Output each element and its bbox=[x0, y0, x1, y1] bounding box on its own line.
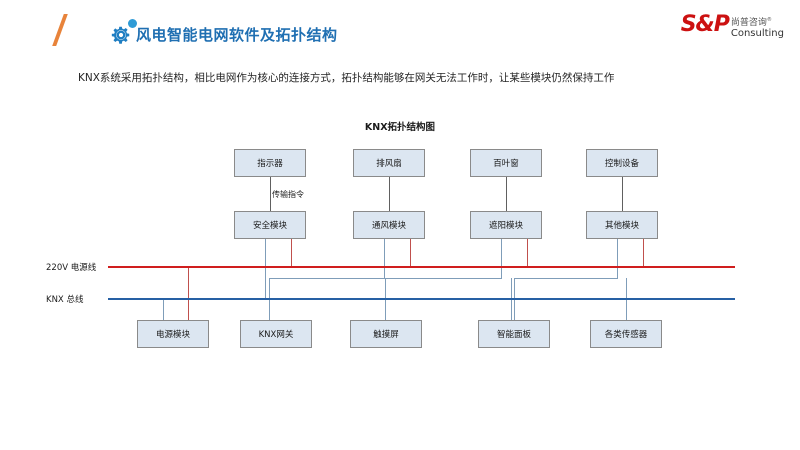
node-knx-gateway[interactable]: KNX网关 bbox=[240, 320, 312, 348]
node-safety-module[interactable]: 安全模块 bbox=[234, 211, 306, 239]
knx-topology-diagram: KNX拓扑结构图 传输指令 220V 电源线 KNX 总线 指示器 排风扇 百叶… bbox=[0, 0, 800, 450]
knx-drop-shading bbox=[501, 239, 502, 279]
node-shading-module[interactable]: 遮阳模块 bbox=[470, 211, 542, 239]
connector-fan-to-ventilation bbox=[389, 177, 390, 211]
connector-control-to-other bbox=[622, 177, 623, 211]
edge-label-transmit-command: 传输指令 bbox=[272, 189, 304, 200]
node-ventilation-module[interactable]: 通风模块 bbox=[353, 211, 425, 239]
knx-drop-safety bbox=[265, 239, 266, 299]
bus-line-220v bbox=[108, 266, 735, 268]
knx-drop-power-module bbox=[163, 299, 164, 320]
knx-drop-ventilation bbox=[384, 239, 385, 279]
knx-route-ventilation-h bbox=[269, 278, 385, 279]
node-louver-blind[interactable]: 百叶窗 bbox=[470, 149, 542, 177]
node-control-equipment[interactable]: 控制设备 bbox=[586, 149, 658, 177]
bus-label-knx: KNX 总线 bbox=[46, 293, 83, 305]
node-other-module[interactable]: 其他模块 bbox=[586, 211, 658, 239]
power-drop-power-module bbox=[188, 267, 189, 320]
bus-label-220v: 220V 电源线 bbox=[46, 261, 96, 273]
node-smart-panel[interactable]: 智能面板 bbox=[478, 320, 550, 348]
power-drop-other bbox=[643, 239, 644, 267]
node-power-module[interactable]: 电源模块 bbox=[137, 320, 209, 348]
power-drop-ventilation bbox=[410, 239, 411, 267]
knx-route-shading-h bbox=[385, 278, 502, 279]
knx-route-other-h bbox=[514, 278, 618, 279]
bus-line-knx bbox=[108, 298, 735, 300]
power-drop-safety bbox=[291, 239, 292, 267]
node-indicator[interactable]: 指示器 bbox=[234, 149, 306, 177]
power-drop-shading bbox=[527, 239, 528, 267]
diagram-title: KNX拓扑结构图 bbox=[0, 119, 800, 133]
knx-drop-other bbox=[617, 239, 618, 279]
connector-blind-to-shading bbox=[506, 177, 507, 211]
node-exhaust-fan[interactable]: 排风扇 bbox=[353, 149, 425, 177]
node-sensors[interactable]: 各类传感器 bbox=[590, 320, 662, 348]
connector-indicator-to-safety bbox=[270, 177, 271, 211]
node-touch-screen[interactable]: 触摸屏 bbox=[350, 320, 422, 348]
